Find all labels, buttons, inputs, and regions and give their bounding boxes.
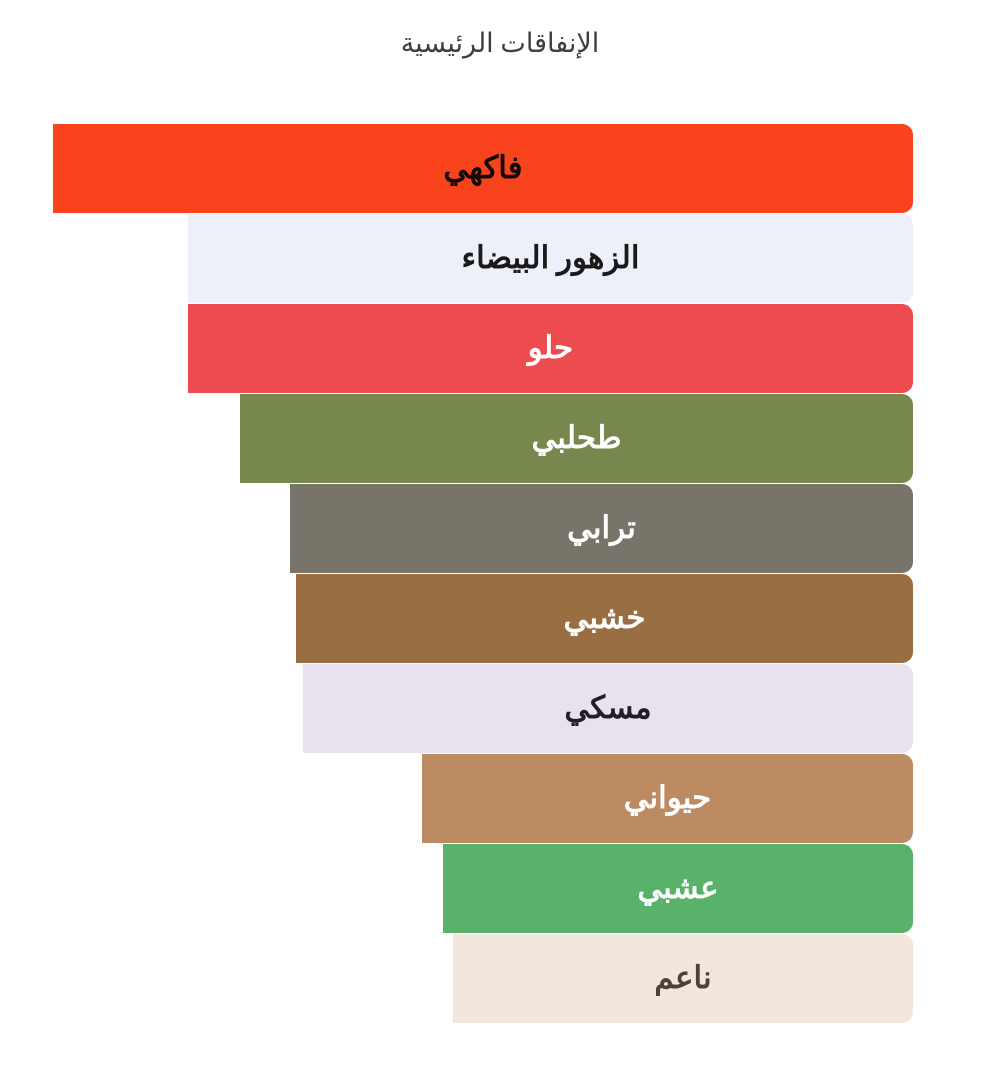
funnel-chart: الإنفاقات الرئيسية فاكهيالزهور البيضاءحل… (0, 0, 1000, 1080)
funnel-segment[interactable]: عشبي (443, 844, 913, 933)
funnel-segment-label: الزهور البيضاء (462, 242, 640, 276)
funnel-segment-label: حيواني (624, 782, 712, 816)
funnel-segment[interactable]: الزهور البيضاء (188, 214, 913, 303)
funnel-bars-container: فاكهيالزهور البيضاءحلوطحلبيترابيخشبيمسكي… (0, 124, 1000, 1019)
funnel-segment-label: مسكي (564, 692, 651, 726)
funnel-segment[interactable]: حلو (188, 304, 913, 393)
funnel-segment-label: خشبي (564, 602, 646, 636)
funnel-segment[interactable]: ناعم (453, 934, 913, 1023)
funnel-segment-label: حلو (528, 332, 573, 366)
funnel-segment-label: ترابي (567, 512, 636, 546)
funnel-segment[interactable]: فاكهي (53, 124, 913, 213)
funnel-segment-label: ناعم (654, 962, 711, 996)
funnel-segment[interactable]: حيواني (422, 754, 913, 843)
funnel-segment-label: طحلبي (531, 422, 621, 456)
funnel-segment[interactable]: طحلبي (240, 394, 913, 483)
funnel-segment-label: فاكهي (443, 152, 522, 186)
funnel-segment[interactable]: خشبي (296, 574, 913, 663)
funnel-segment[interactable]: مسكي (303, 664, 913, 753)
funnel-segment[interactable]: ترابي (290, 484, 913, 573)
chart-title: الإنفاقات الرئيسية (0, 28, 1000, 59)
funnel-segment-label: عشبي (637, 872, 718, 906)
